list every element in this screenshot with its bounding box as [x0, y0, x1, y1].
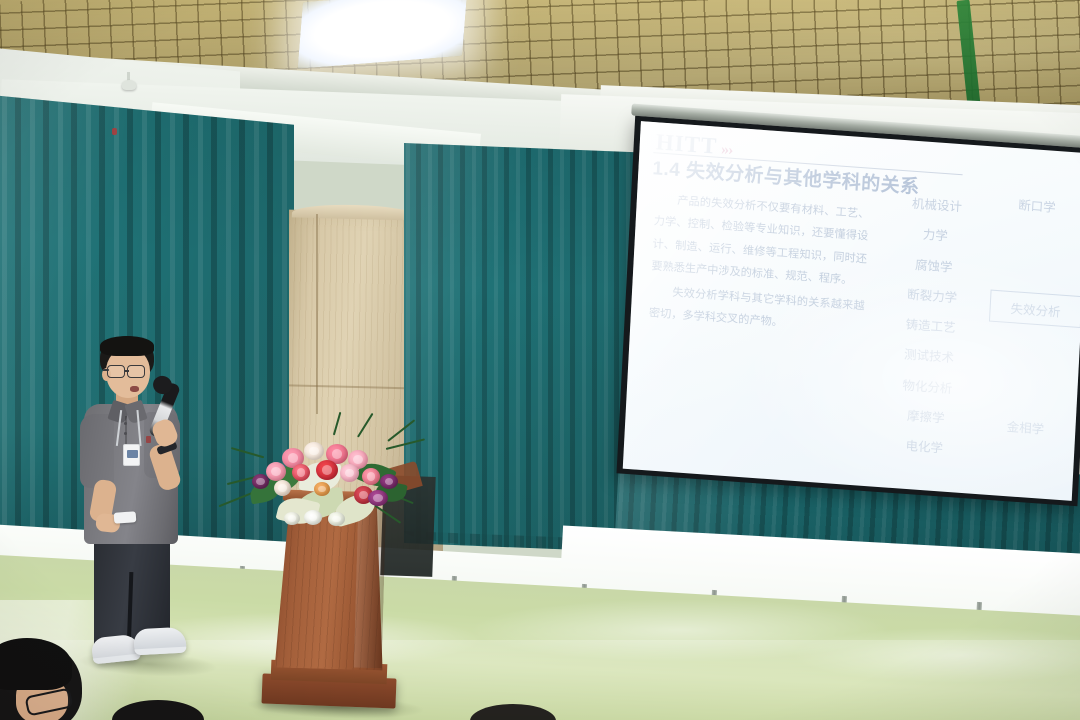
presenter-sleeve-left: [80, 414, 114, 488]
presentation-clicker-icon: [114, 511, 137, 524]
slide-body-text: 产品的失效分析不仅要有材料、工艺、力学、控制、检验等专业知识，还要懂得设计、制造…: [648, 188, 870, 342]
fern-frond: [373, 504, 401, 524]
flower-bloom: [368, 490, 388, 506]
glasses-lens-right: [127, 365, 145, 378]
wood-panel-seam-vertical: [316, 214, 318, 414]
podium-flower-arrangement: [238, 434, 414, 530]
polo-button: [124, 422, 127, 425]
slide-paragraph: 产品的失效分析不仅要有材料、工艺、力学、控制、检验等专业知识，还要懂得设计、制造…: [651, 188, 870, 293]
polo-button: [124, 432, 127, 435]
flower-bloom: [266, 462, 286, 481]
presenter-mouth: [130, 386, 139, 392]
curtain-red-marker: [112, 128, 117, 135]
slide-center-box: 失效分析: [989, 290, 1080, 329]
smoke-detector-icon: [122, 80, 136, 90]
flower-bloom: [284, 512, 300, 525]
flower-bloom: [380, 474, 398, 489]
slide-term-column: 机械设计 力学 腐蚀学 断裂力学 铸造工艺 测试技术 物化分析 摩擦学 电化学: [874, 187, 988, 466]
screen-surface: HITT»› 1.4 失效分析与其他学科的关系 产品的失效分析不仅要有材料、工艺…: [623, 121, 1080, 501]
slide-content: HITT»› 1.4 失效分析与其他学科的关系 产品的失效分析不仅要有材料、工艺…: [623, 121, 1080, 501]
flower-bloom: [292, 464, 310, 481]
flower-bloom: [304, 442, 324, 460]
flower-bloom: [362, 468, 380, 485]
lecture-hall-photo: HITT»› 1.4 失效分析与其他学科的关系 产品的失效分析不仅要有材料、工艺…: [0, 0, 1080, 720]
presenter-hair-fringe: [100, 336, 154, 356]
flower-bloom: [314, 482, 330, 496]
flower-bloom: [316, 460, 338, 480]
presenter: [78, 336, 208, 676]
slide-term-bottom-right: 金相学: [977, 414, 1074, 440]
glasses-lens-left: [107, 365, 125, 378]
flower-bloom: [328, 512, 345, 526]
glasses-bridge: [124, 370, 129, 372]
slide-term: 电化学: [874, 429, 975, 466]
shirt-chest-logo: [146, 436, 151, 443]
slide-term-top-right: 断口学: [989, 192, 1080, 218]
shoe-sole: [134, 647, 186, 656]
projection-screen: HITT»› 1.4 失效分析与其他学科的关系 产品的失效分析不仅要有材料、工艺…: [616, 116, 1080, 519]
id-badge: [123, 444, 140, 466]
screen-frame: HITT»› 1.4 失效分析与其他学科的关系 产品的失效分析不仅要有材料、工艺…: [616, 116, 1080, 507]
flower-bloom: [274, 480, 291, 496]
flower-bloom: [252, 474, 269, 489]
flower-bloom: [340, 464, 359, 482]
polo-placket: [125, 416, 127, 446]
flower-bloom: [304, 510, 322, 525]
shoe-sole: [93, 653, 141, 664]
presenter-shoe-right: [133, 627, 186, 656]
